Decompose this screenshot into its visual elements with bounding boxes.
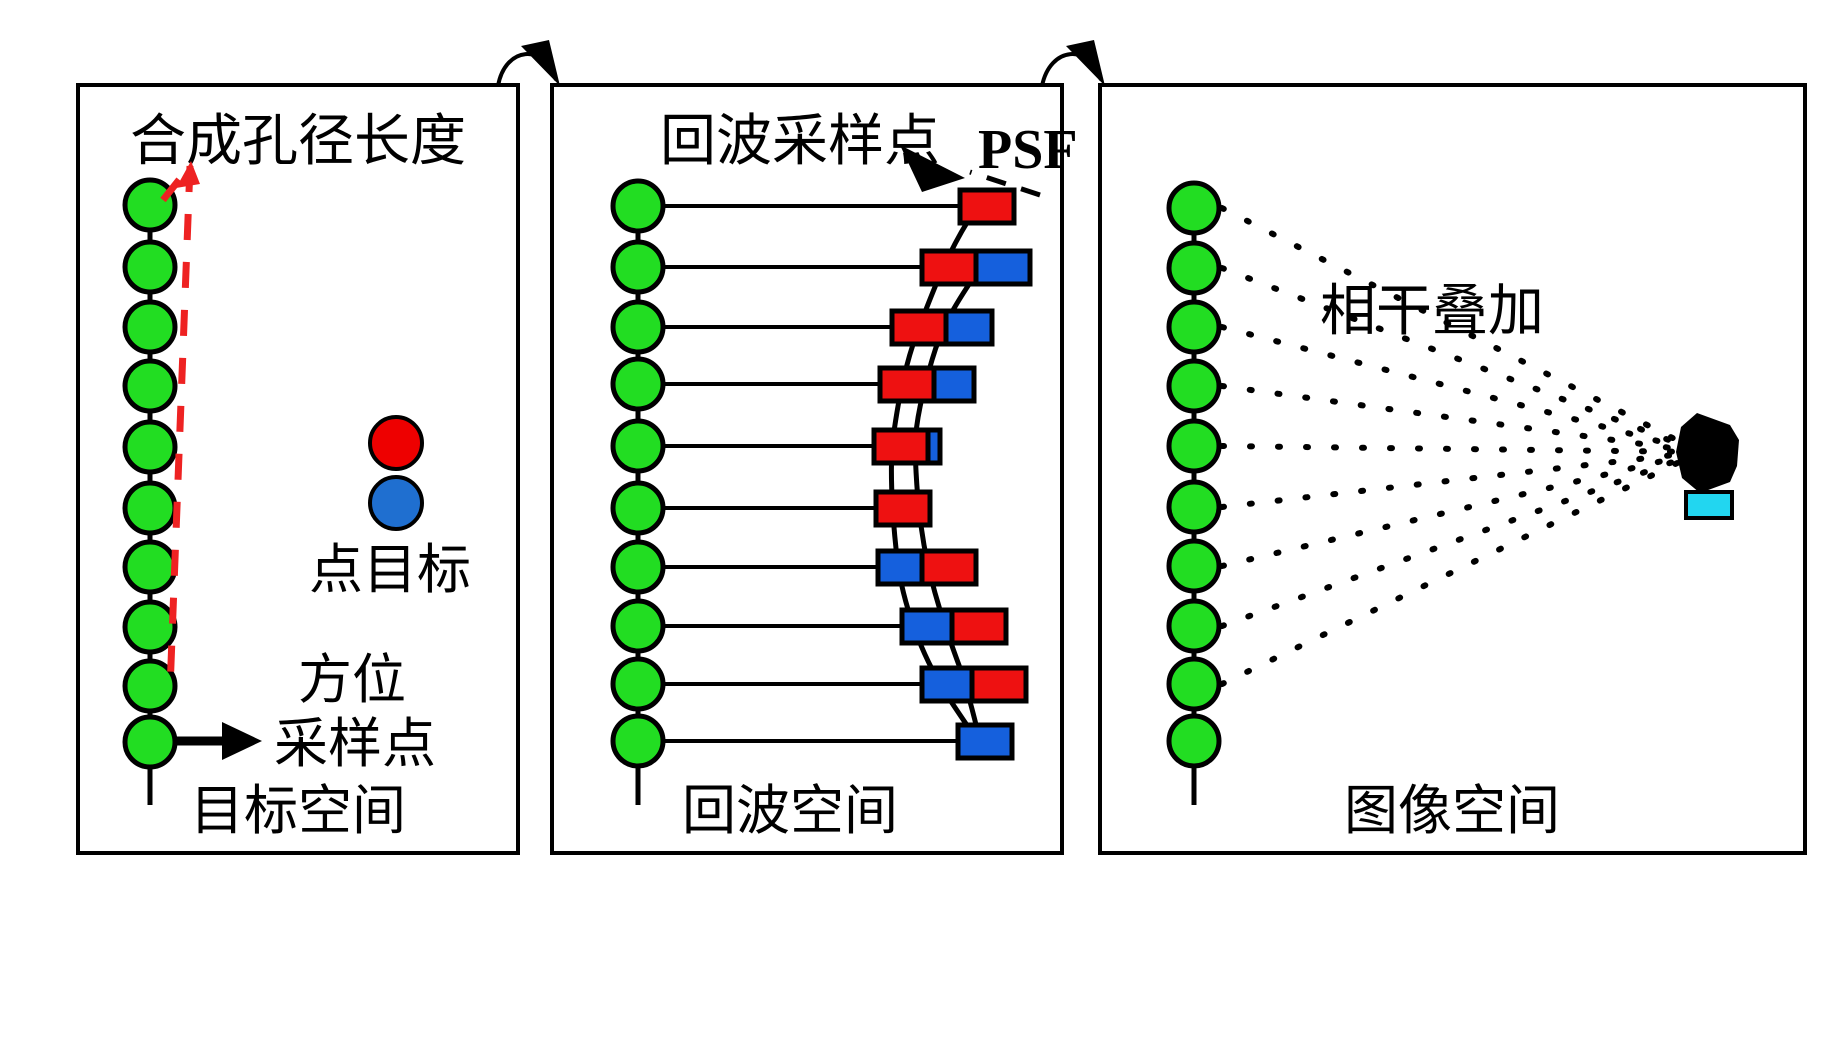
green-dot xyxy=(125,542,175,592)
green-dot xyxy=(1169,716,1219,766)
echo-square-red xyxy=(880,368,934,401)
green-dot xyxy=(613,601,663,651)
green-dot xyxy=(1169,183,1219,233)
echo-square-blue xyxy=(902,610,952,643)
green-dot xyxy=(613,421,663,471)
panel-1-footer: 目标空间 xyxy=(190,779,406,842)
green-dot xyxy=(1169,361,1219,411)
defocused-target-cyan-square xyxy=(1686,492,1732,518)
green-dot xyxy=(613,716,663,766)
green-dot xyxy=(125,602,175,652)
green-dot xyxy=(125,180,175,230)
echo-square-red xyxy=(952,610,1006,643)
panel-target-space: 合成孔径长度 xyxy=(78,85,518,853)
green-dot xyxy=(1169,659,1219,709)
green-dot xyxy=(613,659,663,709)
green-dot xyxy=(1169,482,1219,532)
panel-3-footer: 图像空间 xyxy=(1344,779,1560,842)
green-dot xyxy=(125,361,175,411)
connector-arrowhead-1 xyxy=(521,40,560,86)
green-dot xyxy=(125,717,175,767)
echo-square-blue xyxy=(946,311,992,344)
connector-arrow-1 xyxy=(498,40,560,86)
echo-square-red xyxy=(972,668,1026,701)
azimuth-label-line2: 采样点 xyxy=(274,712,436,775)
panel-1-title: 合成孔径长度 xyxy=(130,109,466,174)
green-dot xyxy=(613,483,663,533)
panel-3-title: 相干叠加 xyxy=(1320,279,1544,344)
green-dot xyxy=(125,302,175,352)
echo-square-blue xyxy=(934,368,974,401)
green-dot xyxy=(613,359,663,409)
green-dot xyxy=(613,181,663,231)
green-dot xyxy=(1169,302,1219,352)
echo-square-blue xyxy=(928,430,940,463)
echo-square-red xyxy=(922,251,976,284)
echo-square-red xyxy=(922,551,976,584)
green-dot xyxy=(1169,421,1219,471)
connector-arrow-2 xyxy=(1042,40,1105,86)
sar-imaging-diagram: 合成孔径长度 xyxy=(0,0,1843,1063)
echo-square-blue xyxy=(878,551,922,584)
legend-point-target-label: 点目标 xyxy=(309,538,471,601)
echo-square-red xyxy=(874,430,928,463)
green-dot xyxy=(1169,601,1219,651)
panel-echo-space: 回波采样点 PSF xyxy=(552,85,1078,853)
panel-2-title: 回波采样点 xyxy=(660,109,940,174)
green-dot xyxy=(613,542,663,592)
figure-canvas: 合成孔径长度 xyxy=(0,0,1843,1063)
green-dot xyxy=(125,242,175,292)
panel-image-space: 相干叠加 图像空间 xyxy=(1100,85,1805,853)
echo-square-blue xyxy=(976,251,1030,284)
legend-blue-circle xyxy=(370,477,422,529)
echo-square-red xyxy=(876,492,930,525)
echo-square-blue xyxy=(922,668,972,701)
green-dot xyxy=(1169,243,1219,293)
echo-square-red xyxy=(960,190,1014,223)
green-dot xyxy=(125,422,175,472)
connector-arrowhead-2 xyxy=(1066,40,1105,86)
green-dot xyxy=(1169,541,1219,591)
azimuth-label-line1: 方位 xyxy=(298,648,406,711)
legend-red-circle xyxy=(370,417,422,469)
green-dot xyxy=(613,242,663,292)
echo-square-blue xyxy=(958,725,1012,758)
green-dot xyxy=(125,483,175,533)
green-dot xyxy=(613,302,663,352)
panel-2-footer: 回波空间 xyxy=(682,779,898,842)
psf-label: PSF xyxy=(978,119,1078,181)
echo-square-red xyxy=(892,311,946,344)
